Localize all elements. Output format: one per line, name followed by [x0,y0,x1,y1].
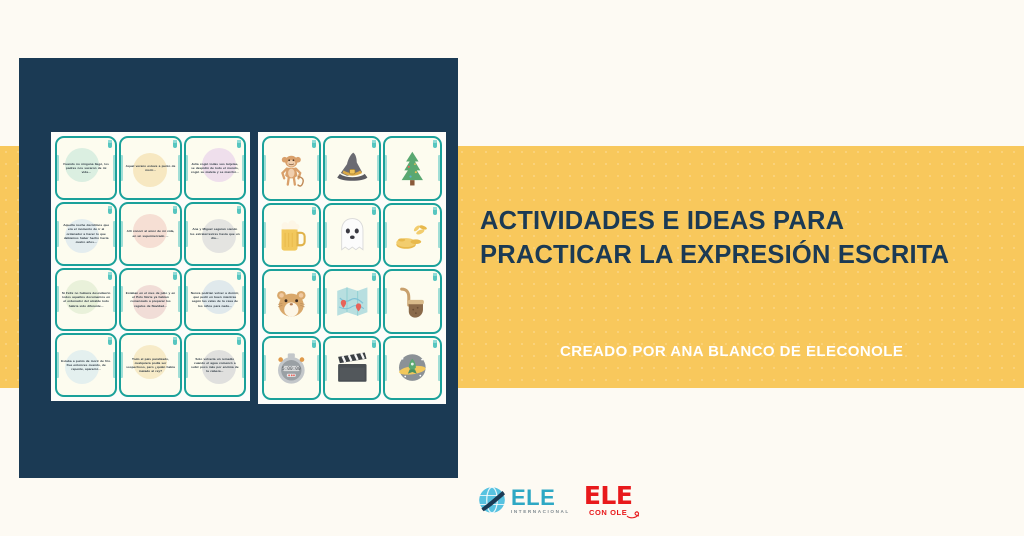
card-tab [263,155,266,181]
story-prompt-card[interactable]: Nunca podrían volver a dormir, qué pedir… [184,268,246,332]
page-title: ACTIVIDADES E IDEAS PARA PRACTICAR LA EX… [480,205,1000,273]
con-ole-secondary: CON OLE [584,509,633,517]
card-tab [377,155,380,181]
card-prompt-text: Solo volvería un remedio cuando el agua … [186,352,244,379]
card-tab [263,288,266,314]
picture-prompt-card[interactable] [323,336,382,401]
card-tab [317,288,320,314]
card-prompt-text: Julia cogió todas sus tarjetas, se despi… [186,157,244,180]
picture-prompt-card[interactable] [323,269,382,334]
credit-line: CREADO POR ANA BLANCO DE ELECONOLE [560,343,1020,360]
pin-icon [108,206,112,214]
card-tab [438,222,441,248]
pin-icon [237,272,241,280]
card-tab [384,155,387,181]
pin-icon [237,337,241,345]
card-tab [438,355,441,381]
beer-mug-icon [270,211,313,258]
card-prompt-text: Fuando no ninguna llegó, los padres nos … [57,157,115,180]
card-prompt-text: Allí conocí al amor de mi vida, en un su… [121,224,179,242]
story-prompt-card[interactable]: Ana y Miguel seguían siendo los extrater… [184,202,246,266]
picture-prompt-card[interactable] [383,269,442,334]
card-tab [263,355,266,381]
pin-icon [108,272,112,280]
ele-con-ole-logo[interactable]: ELE CON OLE [584,483,633,517]
hamster-icon [270,278,313,325]
story-prompt-card[interactable]: Si Félix no hubiera descubierto todos aq… [55,268,117,332]
text-card-grid: Fuando no ninguna llegó, los padres nos … [51,132,250,401]
card-tab [377,288,380,314]
card-tab [384,222,387,248]
picture-prompt-card[interactable] [383,136,442,201]
picture-prompt-card[interactable] [323,136,382,201]
monkey-icon [270,145,313,192]
story-prompt-card[interactable]: Aquel verano estuve a punto de morir... [119,136,181,200]
globe-icon [477,485,507,515]
pin-icon [372,340,376,348]
card-tab [317,155,320,181]
card-tab [317,355,320,381]
stopwatch-icon: 5:00:00 [270,344,313,391]
card-prompt-text: Todo el país paralizado, cualquiera podí… [121,352,179,379]
card-prompt-text: Aquel verano estuve a punto de morir... [121,159,179,177]
card-tab [324,222,327,248]
witch-hat-icon [331,145,374,192]
card-prompt-text: Si Félix no hubiera descubierto todos aq… [57,286,115,313]
story-prompt-card[interactable]: Aquella noche decidimos que era el momen… [55,202,117,266]
christmas-tree-icon [391,145,434,192]
pin-icon [372,273,376,281]
picture-prompt-card-sheet: 5:00:00 [258,132,446,404]
logo-row: ELE INTERNACIONAL ELE CON OLE [477,483,632,517]
card-prompt-text: Aquella noche decidimos que era el momen… [57,218,115,249]
story-prompt-card[interactable]: Estaban en el mes de julio y en el Polo … [119,268,181,332]
ele-int-primary: ELE [511,487,570,509]
ele-int-secondary: INTERNACIONAL [511,510,570,515]
story-prompt-card[interactable]: Fuando no ninguna llegó, los padres nos … [55,136,117,200]
picture-prompt-card[interactable]: 5:00:00 [262,336,321,401]
picture-prompt-card[interactable] [323,203,382,268]
pin-icon [433,140,437,148]
pin-icon [433,207,437,215]
card-tab [384,355,387,381]
story-prompt-card[interactable]: Allí conocí al amor de mi vida, en un su… [119,202,181,266]
card-tab [377,222,380,248]
ele-internacional-logo[interactable]: ELE INTERNACIONAL [477,485,570,515]
pin-icon [237,206,241,214]
ghost-icon [331,211,374,258]
svg-text:5:00:00: 5:00:00 [282,366,301,372]
pin-icon [173,272,177,280]
pin-icon [237,140,241,148]
card-tab [317,222,320,248]
title-line-1: ACTIVIDADES E IDEAS PARA [480,205,1000,239]
map-icon [331,278,374,325]
card-tab [438,288,441,314]
slide-canvas: Fuando no ninguna llegó, los padres nos … [0,0,1024,536]
ele-internacional-wordmark: ELE INTERNACIONAL [511,487,570,515]
smoking-pipe-icon [391,278,434,325]
picture-card-grid: 5:00:00 [258,132,446,404]
pin-icon [433,273,437,281]
clapperboard-icon [331,344,374,391]
title-line-2: PRACTICAR LA EXPRESIÓN ESCRITA [480,239,1000,273]
card-tab [438,155,441,181]
story-prompt-card[interactable]: Solo volvería un remedio cuando el agua … [184,333,246,397]
card-prompt-text: Estaba a punto de morir de frío. Fue ent… [57,354,115,377]
pin-icon [108,140,112,148]
card-tab [263,222,266,248]
picture-prompt-card[interactable] [383,203,442,268]
pin-icon [173,337,177,345]
story-prompt-card[interactable]: Julia cogió todas sus tarjetas, se despi… [184,136,246,200]
story-prompt-card[interactable]: Todo el país paralizado, cualquiera podí… [119,333,181,397]
gold-coins-icon [391,211,434,258]
story-prompt-card[interactable]: Estaba a punto de morir de frío. Fue ent… [55,333,117,397]
pin-icon [173,206,177,214]
pin-icon [433,340,437,348]
card-prompt-text: Ana y Miguel seguían siendo los extrater… [186,222,244,245]
picture-prompt-card[interactable] [383,336,442,401]
swoosh-icon [626,507,642,519]
card-tab [324,355,327,381]
pin-icon [372,207,376,215]
pin-icon [108,337,112,345]
picture-prompt-card[interactable] [262,136,321,201]
pin-icon [312,140,316,148]
card-tab [384,288,387,314]
card-prompt-text: Nunca podrían volver a dormir, qué pedir… [186,286,244,313]
picture-prompt-card[interactable] [262,203,321,268]
card-tab [324,155,327,181]
pin-icon [372,140,376,148]
con-ole-primary: ELE [584,483,633,508]
pin-icon [312,273,316,281]
pin-icon [312,207,316,215]
picture-prompt-card[interactable] [262,269,321,334]
pin-icon [312,340,316,348]
card-tab [377,355,380,381]
card-tab [324,288,327,314]
pin-icon [173,140,177,148]
card-prompt-text: Estaban en el mes de julio y en el Polo … [121,286,179,313]
story-prompt-card-sheet: Fuando no ninguna llegó, los padres nos … [51,132,250,401]
planet-rocket-icon [391,344,434,391]
